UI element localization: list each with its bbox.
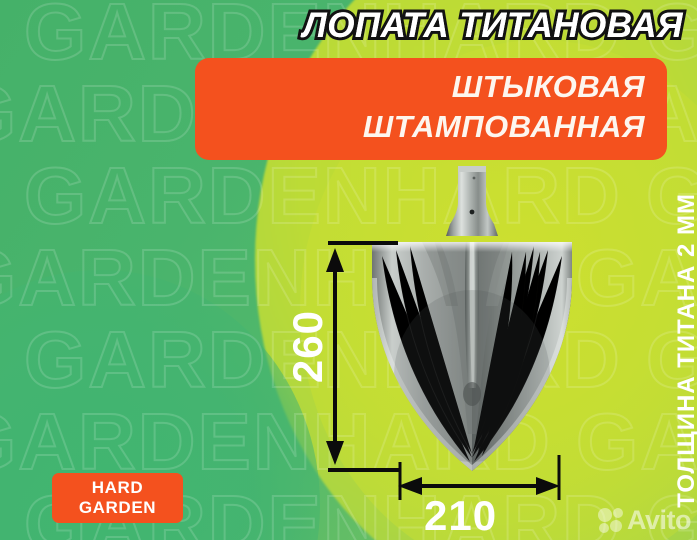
- subtitle-line-1: ШТЫКОВАЯ: [195, 67, 645, 107]
- brand-logo-line-2: GARDEN: [79, 498, 156, 518]
- promo-image-canvas: D GARDENHARD GARDENHARD GARDENHARDD GARD…: [0, 0, 697, 540]
- shovel-product-image: [362, 166, 582, 484]
- brand-logo-line-1: HARD: [92, 478, 144, 498]
- thickness-note-text: Толщина титана 2 мм: [673, 193, 697, 508]
- subtitle-banner: ШТЫКОВАЯ ШТАМПОВАННАЯ: [195, 58, 667, 160]
- avito-wordmark: Avito: [627, 505, 691, 536]
- avito-dots-icon: [597, 506, 627, 536]
- avito-watermark: Avito: [597, 505, 691, 536]
- brand-logo: HARD GARDEN: [52, 473, 183, 523]
- thickness-note: Толщина титана 2 мм: [673, 175, 697, 525]
- page-title: ЛОПАТА ТИТАНОВАЯ: [0, 6, 683, 46]
- subtitle-line-2: ШТАМПОВАННАЯ: [195, 107, 645, 147]
